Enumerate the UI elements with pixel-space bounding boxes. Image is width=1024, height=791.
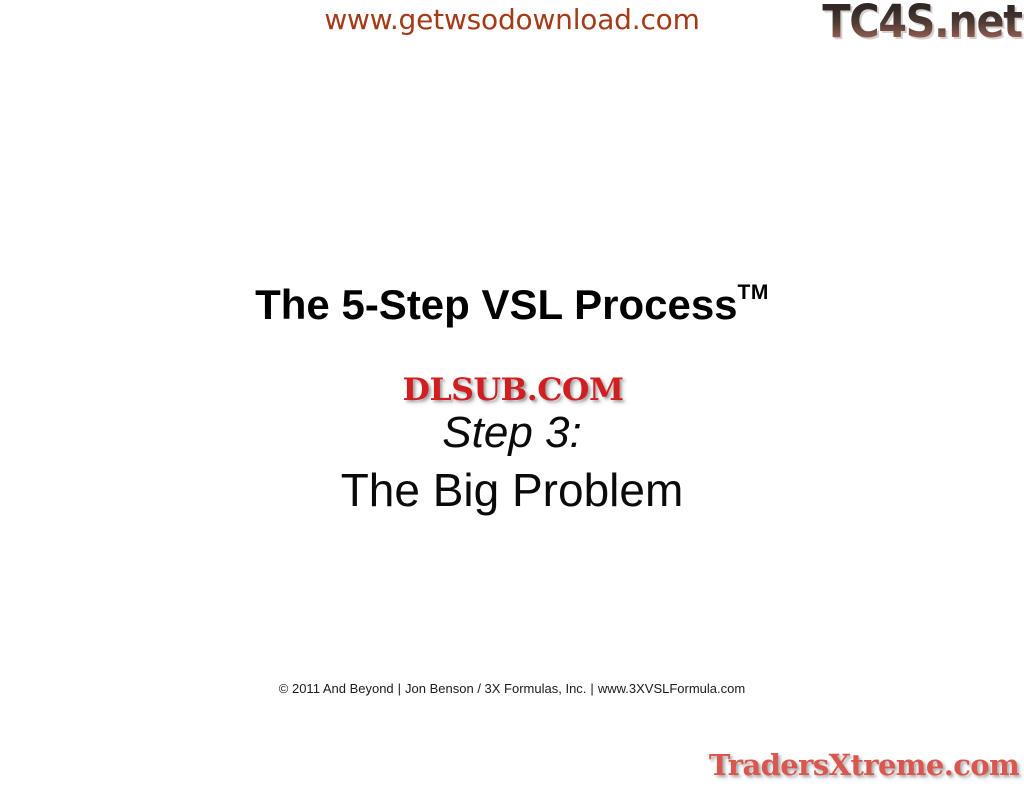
watermark-dlsub-logo: DLSUB.COM bbox=[368, 372, 658, 412]
watermark-tc4s-logo: TC4S.net bbox=[823, 0, 1022, 48]
dlsub-logo-text: DLSUB.COM bbox=[365, 372, 661, 408]
footer-separator-1: | bbox=[394, 681, 405, 696]
tradersxtreme-logo-text: TradersXtreme.com bbox=[706, 748, 1022, 782]
watermark-tradersxtreme-logo: TradersXtreme.com bbox=[706, 748, 1022, 788]
copyright-year-text: © 2011 And Beyond bbox=[279, 681, 394, 696]
footer-author: Jon Benson / 3X Formulas, Inc. bbox=[405, 681, 586, 696]
footer-separator-2: | bbox=[586, 681, 597, 696]
subtitle-step-number: Step 3: bbox=[0, 408, 1024, 458]
trademark-symbol: TM bbox=[738, 281, 769, 304]
presentation-slide: www.getwsodownload.com TC4S.net TC4S.net… bbox=[0, 0, 1024, 791]
page-title: The 5-Step VSL ProcessTM bbox=[0, 281, 1024, 329]
subtitle-step-title: The Big Problem bbox=[0, 463, 1024, 517]
footer-copyright: © 2011 And Beyond|Jon Benson / 3X Formul… bbox=[0, 681, 1024, 696]
page-title-text: The 5-Step VSL Process bbox=[255, 281, 737, 328]
footer-website: www.3XVSLFormula.com bbox=[598, 681, 745, 696]
